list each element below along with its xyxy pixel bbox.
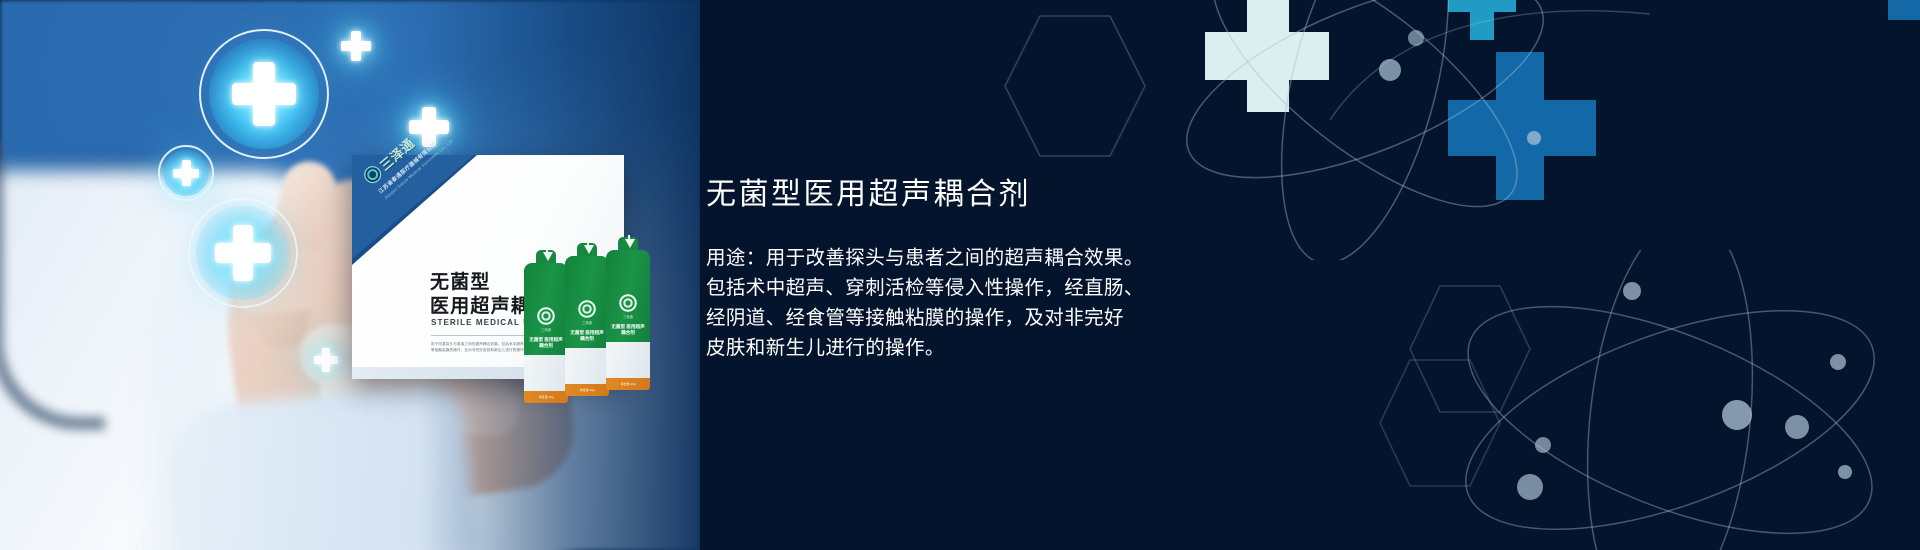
sachet: 三泽通 无菌型 医用超声耦合剂 净含量 20g [565,243,609,383]
sachet-title: 无菌型 医用超声耦合剂 [569,330,605,342]
product-banner: 三泽通 江苏省泰通医疗器械有限公司 Jiangsu Sanze Medical … [0,0,1920,550]
glow-cross-ring-large [199,29,329,159]
atom-orbit-decoration [1420,250,1920,550]
medical-cross-icon [314,348,338,372]
arrow-icon [584,245,594,254]
description-line: 包括术中超声、穿刺活检等侵入性操作，经直肠、 [706,273,1226,303]
sachet: 三泽通 无菌型 医用超声耦合剂 净含量 20g [524,250,568,390]
description-line: 经阴道、经食管等接触粘膜的操作，及对非完好 [706,303,1226,333]
sachet-net-weight: 净含量 20g [565,384,609,396]
copy-block: 无菌型医用超声耦合剂 用途：用于改善探头与患者之间的超声耦合效果。 包括术中超声… [706,175,1226,363]
glow-cross-ring-small [158,145,214,201]
arrow-icon [543,252,553,261]
medical-cross-icon [232,62,296,126]
sachet-title: 无菌型 医用超声耦合剂 [528,337,564,349]
glow-cross-bottom [306,340,346,380]
medical-cross-icon [341,31,371,61]
sachet-white-panel [565,348,609,384]
banner-title: 无菌型医用超声耦合剂 [706,175,1226,215]
sachet-brand-mark: 三泽通 [533,327,559,332]
box-title-line1: 无菌型 [430,267,491,294]
arrow-icon [625,239,635,248]
sachet: 三泽通 无菌型 医用超声耦合剂 净含量 20g [606,237,650,377]
orbit-line-decoration [1330,0,1650,140]
glow-cross-top [332,22,380,70]
brand-spiral-icon [537,307,555,325]
glow-cross-ring-medium [188,198,298,308]
product-packaging: 三泽通 江苏省泰通医疗器械有限公司 Jiangsu Sanze Medical … [352,155,672,400]
sachet-body: 三泽通 无菌型 医用超声耦合剂 净含量 20g [565,256,609,383]
medical-cross-icon [173,160,199,186]
sachet-title: 无菌型 医用超声耦合剂 [610,324,646,336]
sachet-body: 三泽通 无菌型 医用超声耦合剂 净含量 20g [524,263,568,390]
banner-description: 用途：用于改善探头与患者之间的超声耦合效果。 包括术中超声、穿刺活检等侵入性操作… [706,243,1226,363]
description-line: 皮肤和新生儿进行的操作。 [706,333,1226,363]
sachet-orange-band: 净含量 20g [524,391,568,403]
hexagon-outline [1000,6,1150,166]
medical-cross-icon [215,225,271,281]
sachet-body: 三泽通 无菌型 医用超声耦合剂 净含量 20g [606,250,650,377]
stethoscope-icon [0,140,105,430]
flat-cross-small-icon [1888,0,1920,32]
sachet-net-weight: 净含量 20g [606,378,650,390]
brand-spiral-icon [578,300,596,318]
sachet-white-panel [524,355,568,391]
sachet-net-weight: 净含量 20g [524,391,568,403]
description-line: 用途：用于改善探头与患者之间的超声耦合效果。 [706,243,1226,273]
brand-spiral-icon [619,294,637,312]
sachet-orange-band: 净含量 20g [606,378,650,390]
sachet-white-panel [606,342,650,378]
sachet-brand-mark: 三泽通 [615,314,641,319]
sachet-brand-mark: 三泽通 [574,320,600,325]
sachet-orange-band: 净含量 20g [565,384,609,396]
